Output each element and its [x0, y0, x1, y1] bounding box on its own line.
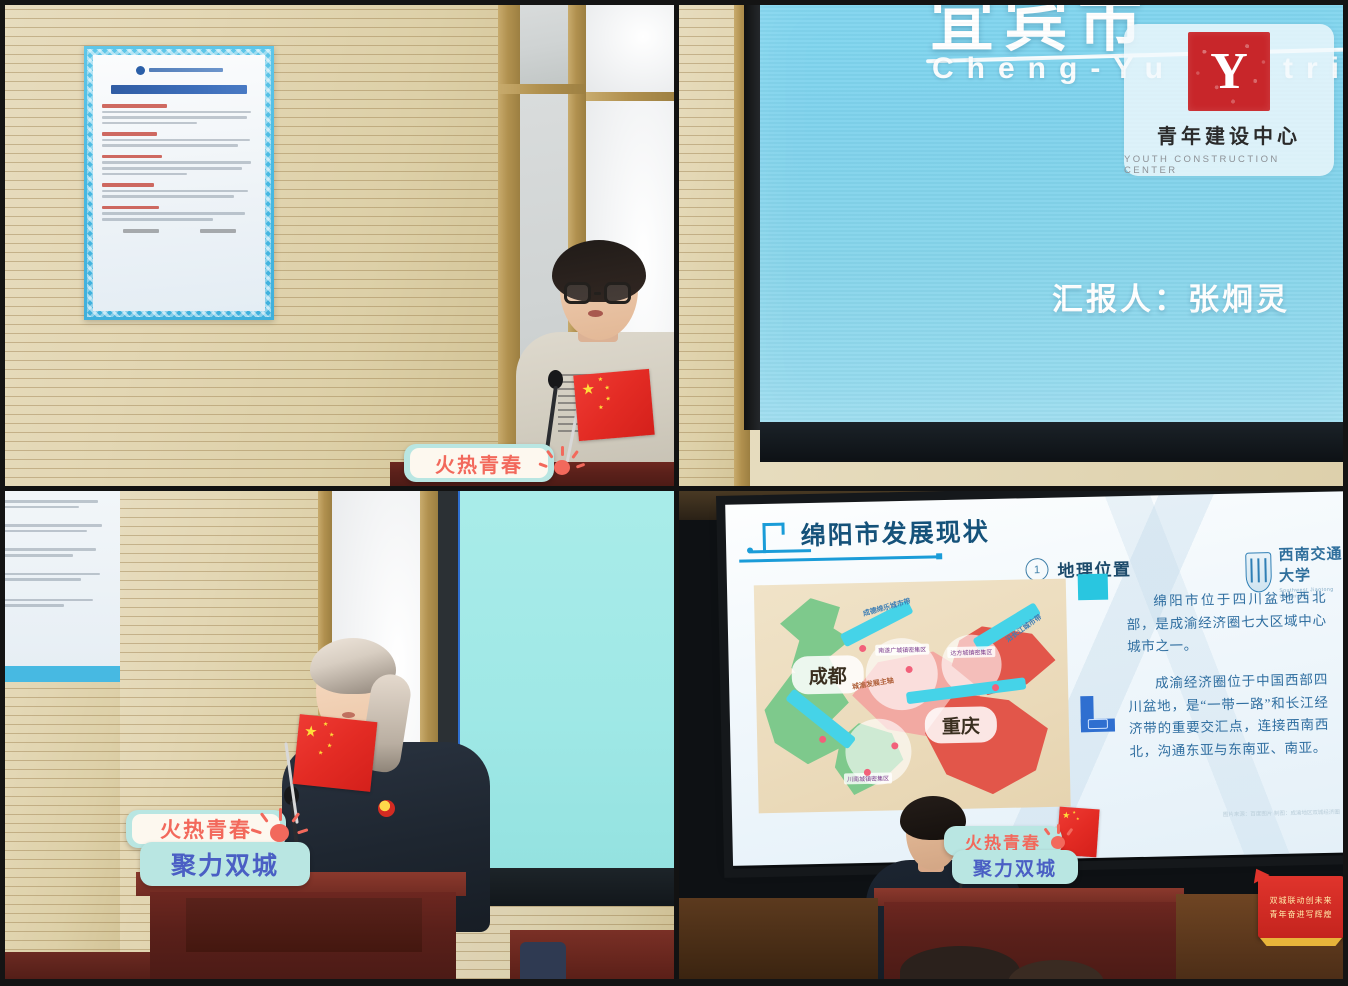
speaker-1-glasses — [564, 282, 631, 304]
frame-top — [0, 0, 1348, 5]
photo-collage: ★ ★ ★ ★ ★ 火热青春 — [0, 0, 1348, 986]
podium-sign-1: 火热青春 — [404, 444, 554, 482]
podium-2-front-panel — [186, 898, 422, 952]
speaker-1-mouth — [588, 310, 603, 317]
podium-sign-3-text-2: 聚力双城 — [973, 854, 1057, 881]
watermark-seal-icon: Y — [1188, 32, 1270, 111]
screen-lower-bezel — [760, 422, 1348, 462]
podium-sign-1-text: 火热青春 — [435, 449, 523, 478]
map-label-cluster-1: 南遂广城镇密集区 — [875, 644, 929, 656]
panel-top-left-speaker: ★ ★ ★ ★ ★ 火热青春 — [0, 0, 678, 490]
slide-presenter-line: 汇报人：张炯灵 — [1052, 274, 1290, 319]
watermark-english-name: YOUTH CONSTRUCTION CENTER — [1124, 154, 1334, 176]
podium-sign-2-text-2: 聚力双城 — [171, 846, 279, 882]
university-seal-icon — [136, 66, 145, 75]
slide-corner-accent-top — [1078, 574, 1109, 601]
red-banner-line-1: 双城联动创未来 — [1270, 895, 1333, 906]
collage-seam-horizontal-right — [678, 486, 1348, 491]
poster-signature — [102, 229, 256, 233]
map-city-chongqing: 重庆 — [924, 706, 997, 744]
university-shield-icon — [1245, 552, 1272, 593]
poster-continuation-border — [0, 666, 120, 682]
collage-seam-horizontal-left — [0, 486, 678, 491]
podium-sign-2-text-1: 火热青春 — [160, 814, 252, 844]
frame-bottom — [0, 979, 1348, 986]
poster-crest — [102, 64, 256, 76]
frame-left — [0, 0, 5, 986]
whiteboard-divider — [586, 92, 678, 101]
watermark-chinese-name: 青年建设中心 — [1157, 120, 1301, 149]
slide-body-paragraph-1: 绵阳市位于四川盆地西北部，是成渝经济圈七大区域中心城市之一。 — [1126, 587, 1327, 659]
panel-bottom-left-speaker: ★ ★ ★ ★ ★ 火热青春 聚力双城 — [0, 490, 678, 986]
red-banner-sign: 双城联动创未来 青年奋进写辉煌 — [1258, 876, 1344, 938]
slide-section-number-graphic — [746, 523, 793, 558]
map-image: 成都 重庆 南遂广城镇密集区 达方城镇密集区 川南城镇密集区 成德绵乐城市带 沿… — [754, 579, 1071, 814]
panelC-cyan-screen — [458, 490, 678, 868]
slide-body-paragraph-2: 成渝经济圈位于中国西部四川盆地，是“一带一路”和长江经济带的重要交汇点，连接西南… — [1128, 669, 1330, 764]
wall-poster — [84, 46, 274, 320]
sunburst-icon-2 — [258, 808, 302, 850]
panelC-screen-bezel — [458, 868, 678, 906]
map-label-cluster-2: 达方城镇密集区 — [947, 646, 995, 658]
university-name-cn: 西南交通大学 — [1278, 542, 1348, 585]
sunburst-icon-1 — [544, 446, 580, 482]
sunburst-icon-3 — [1042, 824, 1074, 856]
projection-screen-status-slide: 绵阳市发展现状 1 地理位置 西南交通大学 Southwest Jiaotong… — [724, 490, 1348, 865]
speaker-2-party-badge — [378, 800, 395, 817]
subsection-marker: 1 — [1025, 558, 1048, 581]
poster-body — [102, 104, 256, 221]
watermark-logo: Y 青年建设中心 YOUTH CONSTRUCTION CENTER — [1124, 24, 1334, 176]
window-glass-top — [520, 0, 568, 84]
red-banner-line-2: 青年奋进写辉煌 — [1270, 909, 1333, 920]
frame-right — [1343, 0, 1348, 986]
collage-seam-vertical — [674, 0, 679, 986]
panelD-left-desk — [678, 898, 878, 986]
window-transom — [498, 84, 588, 94]
poster-content — [93, 55, 265, 311]
slide-credit: 图片来源：百度图片 制图：成渝地区双城经济圈 — [1223, 809, 1340, 820]
watermark-seal-glyph: Y — [1210, 46, 1248, 98]
poster-title-bar — [111, 85, 247, 94]
whiteboard-upper — [586, 0, 678, 92]
slide-heading: 绵阳市发展现状 — [800, 512, 990, 552]
slide-corner-accent-bottom — [1080, 696, 1115, 733]
panel-bottom-right-slide: 绵阳市发展现状 1 地理位置 西南交通大学 Southwest Jiaotong… — [678, 490, 1348, 986]
poster-org-text — [149, 68, 223, 72]
slide-body-text: 绵阳市位于四川盆地西北部，是成渝经济圈七大区域中心城市之一。 成渝经济圈位于中国… — [1126, 587, 1330, 778]
poster-continuation-lines — [4, 500, 108, 660]
